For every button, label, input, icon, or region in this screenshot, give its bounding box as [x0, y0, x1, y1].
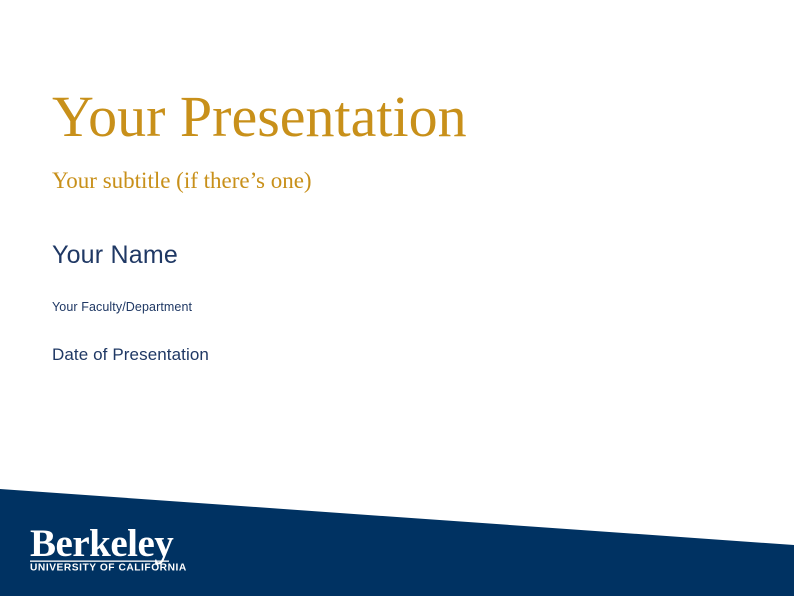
berkeley-tagline: UNIVERSITY OF CALIFORNIA: [30, 563, 187, 574]
berkeley-wordmark: Berkeley: [30, 522, 174, 565]
page-subtitle: Your subtitle (if there’s one): [52, 146, 692, 193]
page-title: Your Presentation: [52, 88, 692, 146]
presentation-date: Date of Presentation: [52, 314, 692, 365]
presenter-department: Your Faculty/Department: [52, 270, 692, 314]
presenter-name: Your Name: [52, 193, 692, 270]
berkeley-logo: Berkeley UNIVERSITY OF CALIFORNIA: [30, 524, 190, 574]
title-text-block: Your Presentation Your subtitle (if ther…: [52, 88, 692, 365]
title-slide: Your Presentation Your subtitle (if ther…: [0, 0, 794, 596]
